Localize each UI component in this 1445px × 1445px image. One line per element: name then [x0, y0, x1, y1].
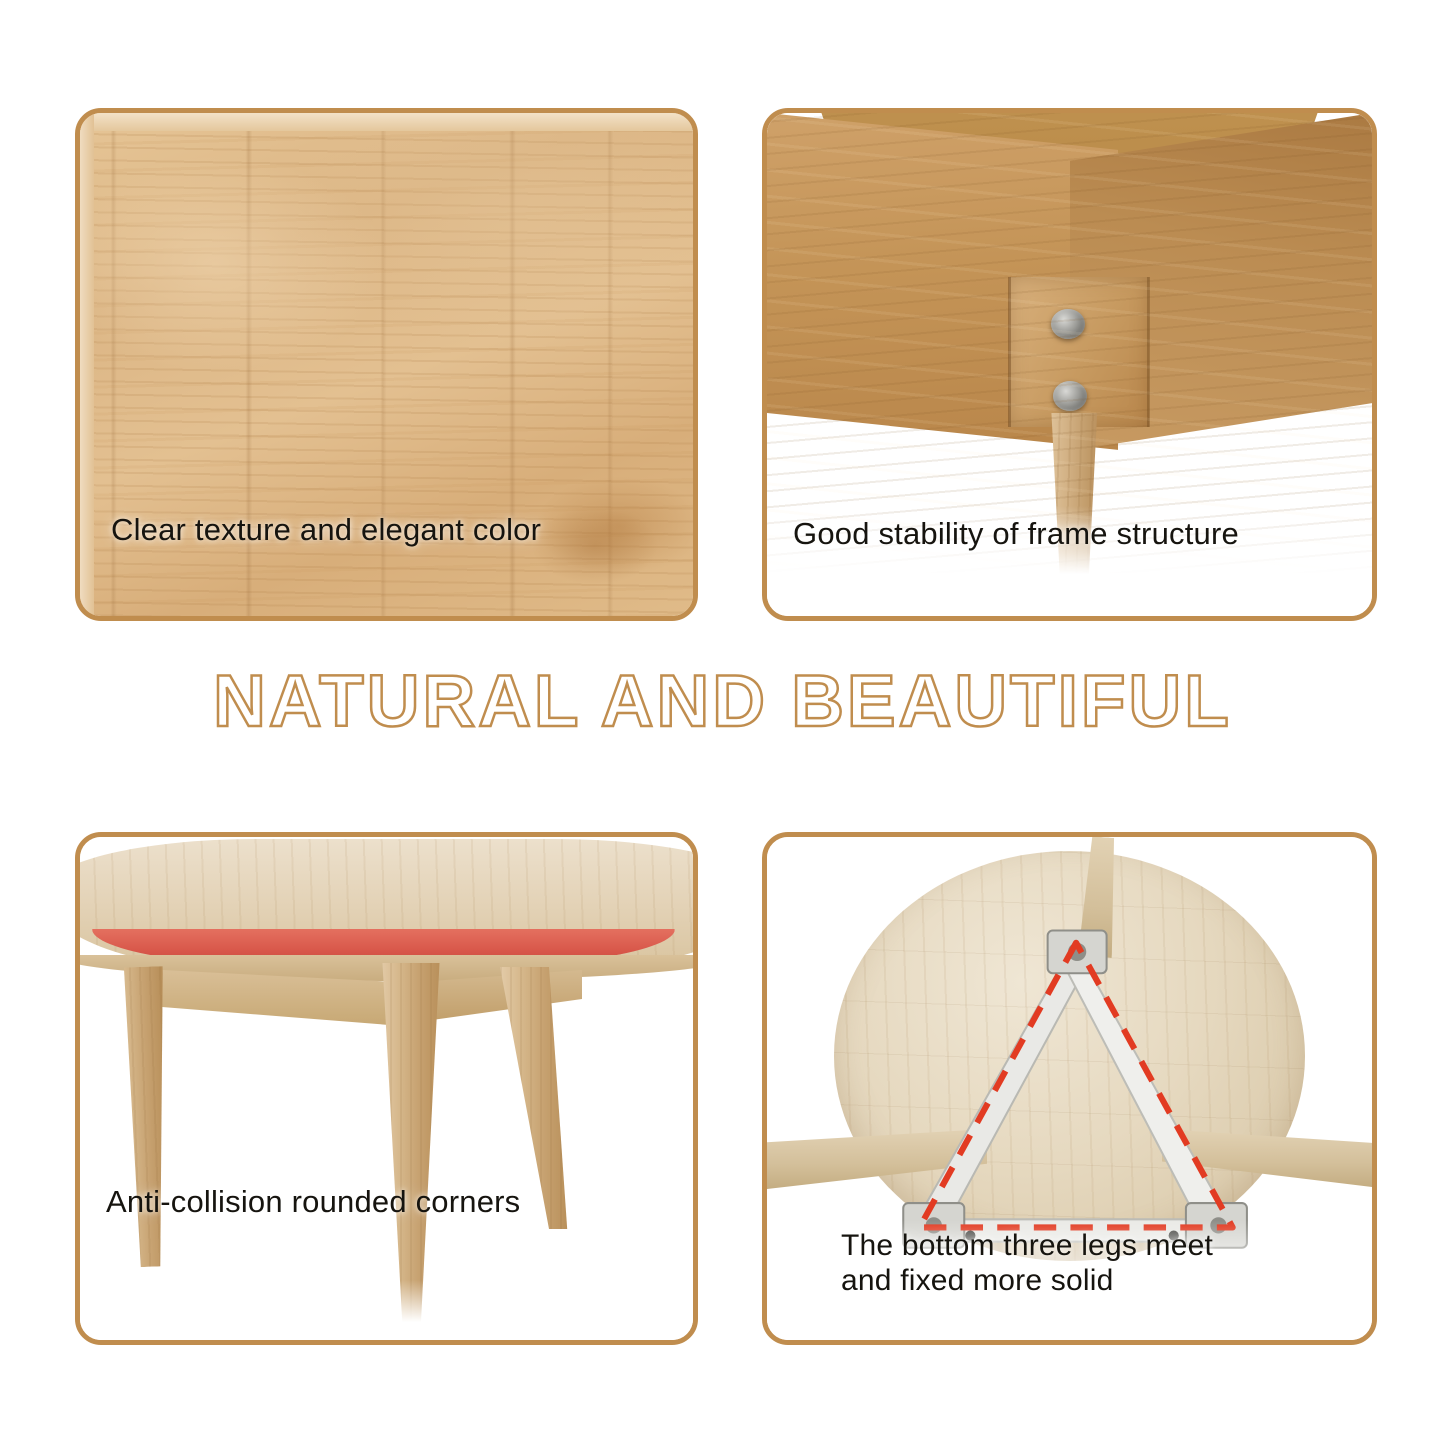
panel-three-legs-brace: The bottom three legs meet and fixed mor… [762, 832, 1377, 1345]
panel-caption-top-right: Good stability of frame structure [767, 516, 1372, 552]
screw-upper-icon [1051, 309, 1085, 339]
bottom-fade [80, 1280, 693, 1340]
table-leg-left [109, 966, 173, 1268]
panel-caption-bottom-right: The bottom three legs meet and fixed mor… [767, 1229, 1372, 1298]
table-legs-photo [80, 837, 693, 1340]
panel-caption-bottom-left: Anti-collision rounded corners [80, 1184, 693, 1220]
brace-arms [920, 947, 1227, 1242]
panel-clear-texture: Clear texture and elegant color [75, 108, 698, 621]
leg-left-grain [109, 966, 173, 1268]
caption-line-1: The bottom three legs meet [841, 1229, 1213, 1262]
product-feature-collage: Clear texture and elegant color Good sta… [0, 0, 1445, 1445]
panel-rounded-corners: Anti-collision rounded corners [75, 832, 698, 1345]
panel-caption-top-left: Clear texture and elegant color [80, 512, 693, 548]
table-top-edge-highlight [80, 113, 693, 131]
caption-line-2: and fixed more solid [841, 1264, 1372, 1299]
leg-center-grain [380, 963, 442, 1323]
headline-natural-and-beautiful: NATURAL AND BEAUTIFUL [0, 660, 1445, 743]
panel-frame-stability: Good stability of frame structure [762, 108, 1377, 621]
table-leg-center [380, 963, 442, 1323]
screw-lower-icon [1053, 381, 1087, 411]
